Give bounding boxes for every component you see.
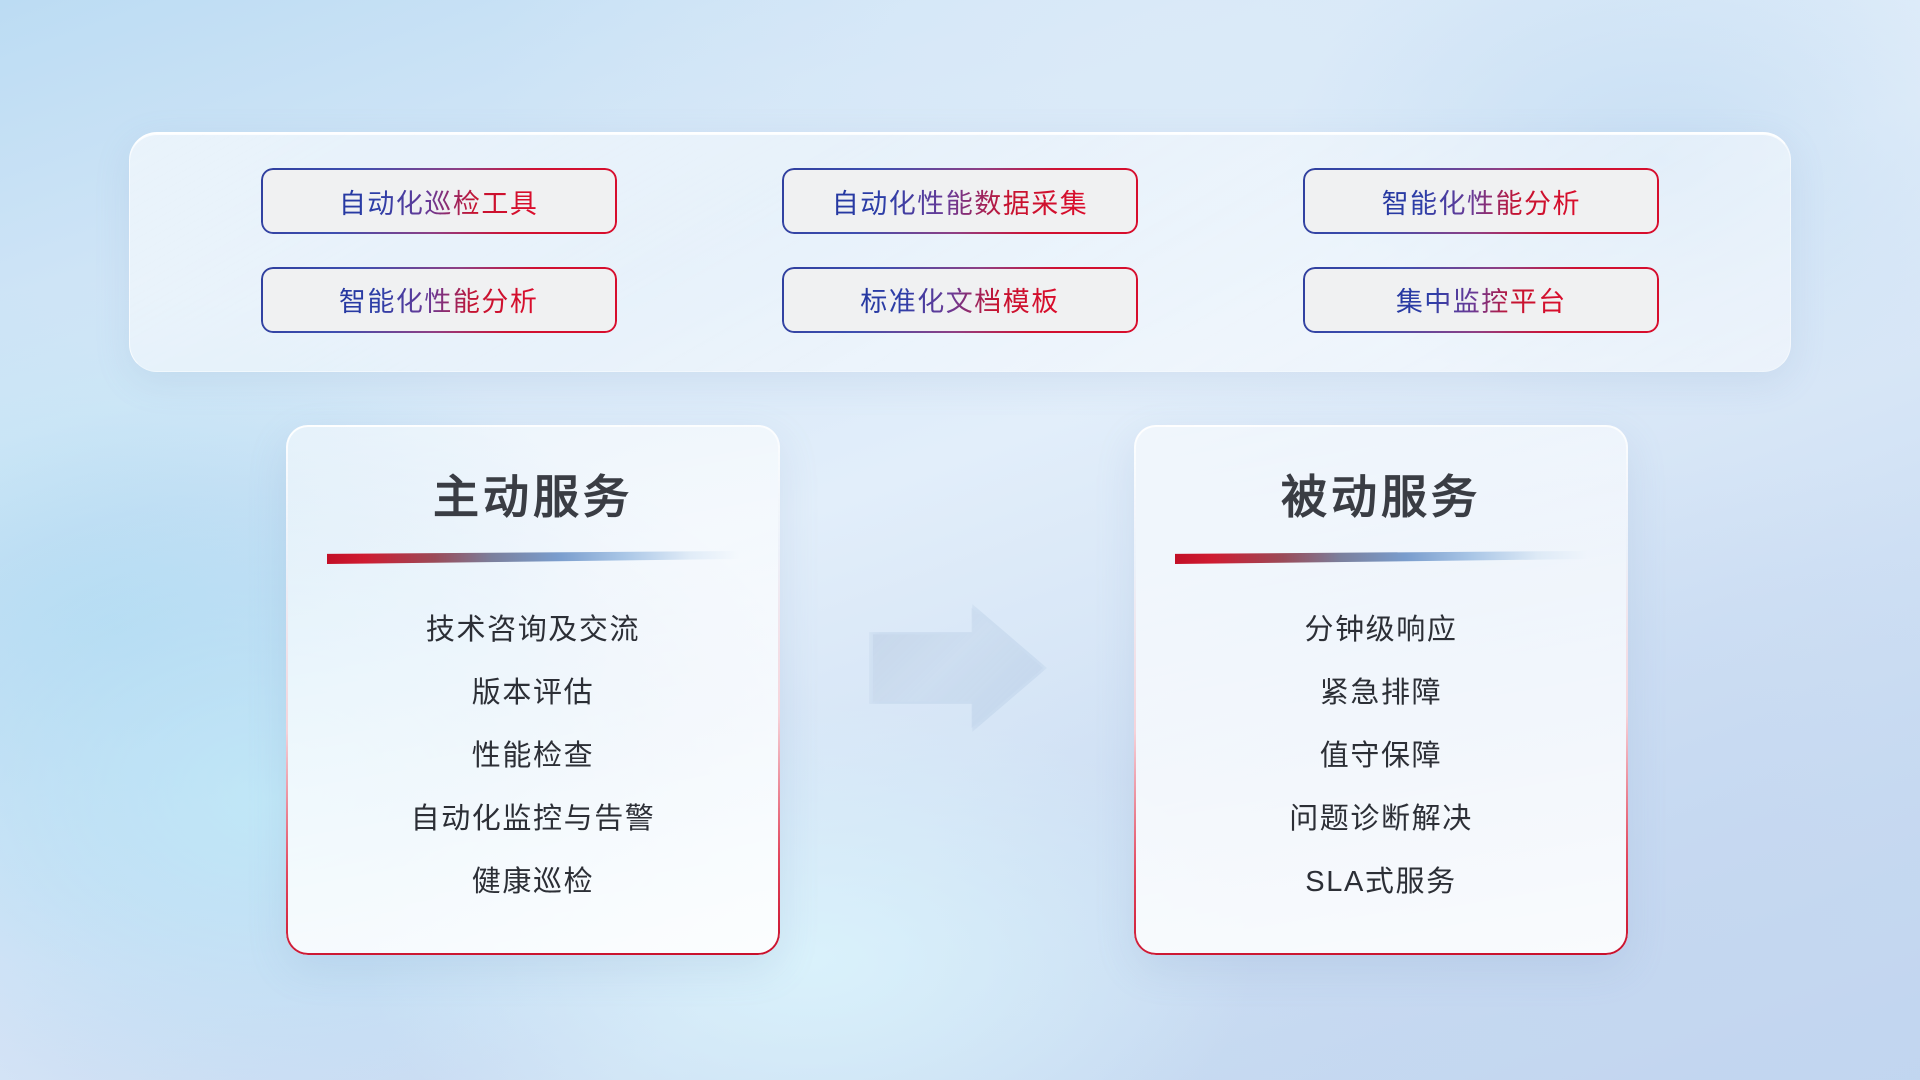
list-item: 技术咨询及交流 [426,606,640,648]
capability-chip-label: 标准化文档模板 [860,280,1060,319]
list-item: 问题诊断解决 [1289,795,1473,837]
list-item: 健康巡检 [472,858,594,900]
capability-chip-4[interactable]: 智能化性能分析 [261,267,617,333]
right-arrow-icon [873,608,1043,728]
card-divider-bar [1175,551,1587,564]
infographic-canvas: 自动化巡检工具 自动化性能数据采集 智能化性能分析 智能化性能分析 标准化文档模… [0,0,1920,1080]
service-card-active: 主动服务 技术咨询及交流 版本评估 性能检查 自动化监控与告警 健康巡检 [286,425,780,955]
card-divider [327,551,739,564]
capability-chip-label: 自动化性能数据采集 [832,182,1089,221]
capability-chip-1[interactable]: 自动化巡检工具 [261,168,617,234]
service-list-passive: 分钟级响应 紧急排障 值守保障 问题诊断解决 SLA式服务 [1134,606,1628,900]
capability-chip-label: 智能化性能分析 [339,280,539,319]
list-item: 版本评估 [472,669,594,711]
capability-chip-2[interactable]: 自动化性能数据采集 [782,168,1138,234]
card-divider-bar [327,551,739,564]
list-item: 自动化监控与告警 [411,795,656,837]
capability-chip-3[interactable]: 智能化性能分析 [1303,168,1659,234]
capabilities-panel: 自动化巡检工具 自动化性能数据采集 智能化性能分析 智能化性能分析 标准化文档模… [129,132,1791,372]
list-item: 分钟级响应 [1304,606,1457,648]
list-item: SLA式服务 [1305,858,1456,900]
card-title-active: 主动服务 [286,461,780,527]
service-card-passive: 被动服务 分钟级响应 紧急排障 值守保障 问题诊断解决 SLA式服务 [1134,425,1628,955]
card-divider [1175,551,1587,564]
list-item: 紧急排障 [1320,669,1442,711]
capability-chip-label: 自动化巡检工具 [339,182,539,221]
list-item: 值守保障 [1320,732,1442,774]
capability-chip-label: 集中监控平台 [1396,280,1567,319]
capability-chip-label: 智能化性能分析 [1382,182,1582,221]
capability-chip-6[interactable]: 集中监控平台 [1303,267,1659,333]
capability-chip-5[interactable]: 标准化文档模板 [782,267,1138,333]
card-title-passive: 被动服务 [1134,461,1628,527]
list-item: 性能检查 [472,732,594,774]
service-list-active: 技术咨询及交流 版本评估 性能检查 自动化监控与告警 健康巡检 [286,606,780,900]
